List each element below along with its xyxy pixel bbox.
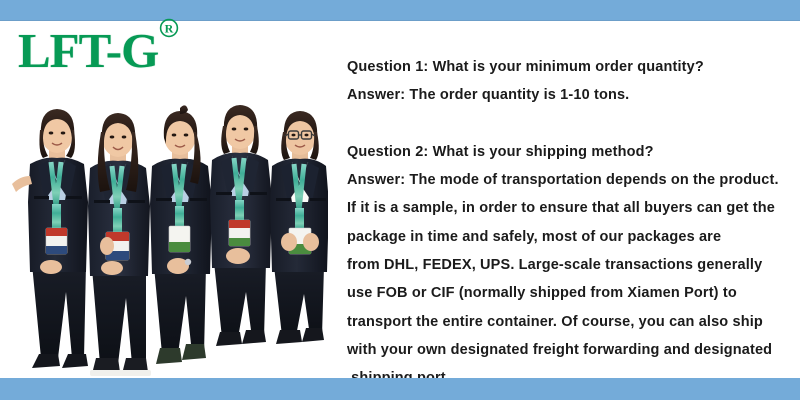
faq-text-block: Question 1: What is your minimum order q… xyxy=(347,53,793,393)
faq-line-spacer xyxy=(347,110,793,138)
faq-line-1: Question 1: What is your minimum order q… xyxy=(347,53,793,81)
team-photo xyxy=(8,96,328,384)
registered-trademark-icon: R xyxy=(159,18,179,38)
svg-text:R: R xyxy=(165,22,174,36)
faq-line-11: with your own designated freight forward… xyxy=(347,336,793,364)
faq-line-8: from DHL, FEDEX, UPS. Large-scale transa… xyxy=(347,251,793,279)
faq-line-5: Answer: The mode of transportation depen… xyxy=(347,166,793,194)
brand-logo: LFT-G R xyxy=(18,26,179,75)
logo-wordmark: LFT-G xyxy=(18,26,158,75)
faq-line-6: If it is a sample, in order to ensure th… xyxy=(347,194,793,222)
faq-line-7: package in time and safely, most of our … xyxy=(347,223,793,251)
faq-line-2: Answer: The order quantity is 1-10 tons. xyxy=(347,81,793,109)
faq-line-10: transport the entire container. Of cours… xyxy=(347,308,793,336)
faq-banner-image: LFT-G R xyxy=(0,0,800,400)
bottom-banner-bar xyxy=(0,378,800,400)
faq-line-9: use FOB or CIF (normally shipped from Xi… xyxy=(347,279,793,307)
faq-line-4: Question 2: What is your shipping method… xyxy=(347,138,793,166)
top-banner-bar xyxy=(0,0,800,21)
